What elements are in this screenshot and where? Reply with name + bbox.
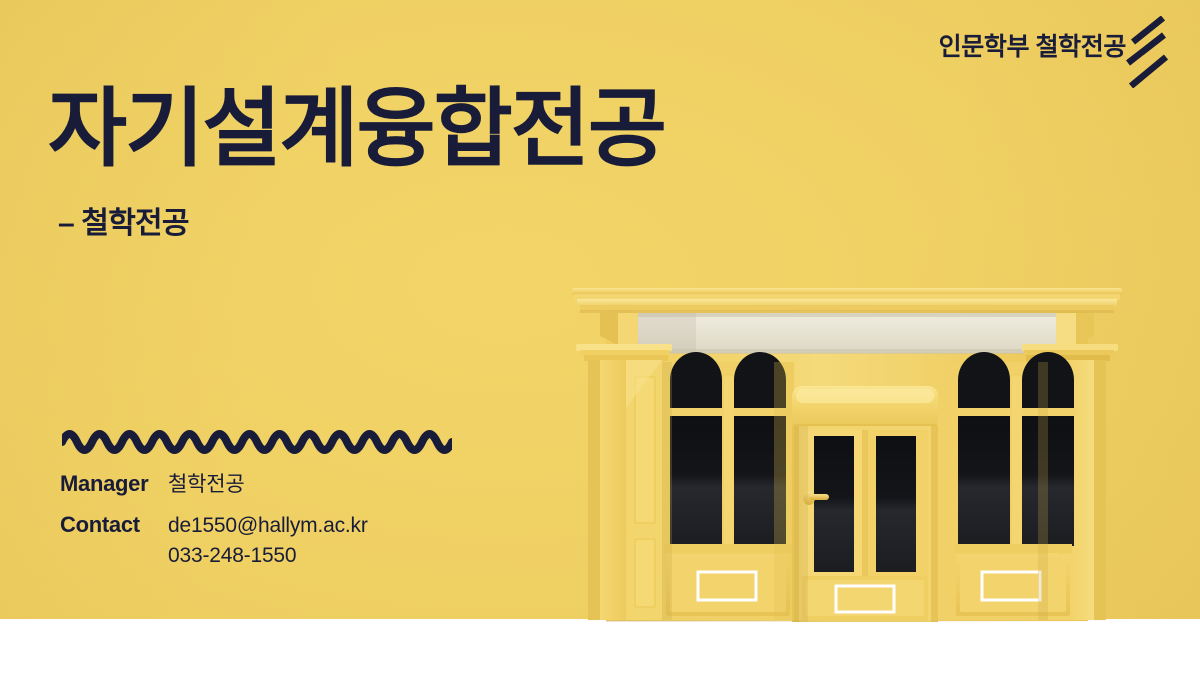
- contact-block: Manager 철학전공 Contact de1550@hallym.ac.kr…: [60, 468, 368, 568]
- door-sign-panel: [792, 386, 938, 431]
- manager-row: Manager 철학전공: [60, 468, 368, 498]
- contact-row: Contact de1550@hallym.ac.kr: [60, 512, 368, 538]
- page-title: 자기설계융합전공: [48, 84, 665, 174]
- manager-label: Manager: [60, 471, 168, 497]
- floor-white-band: [0, 619, 1200, 675]
- contact-phone: 033-248-1550: [168, 544, 368, 568]
- page-subtitle: – 철학전공: [58, 198, 189, 242]
- right-arched-window-pair: [952, 352, 1076, 620]
- slide-root: 인문학부 철학전공 자기설계융합전공 – 철학전공 Manager 철학전공 C…: [0, 0, 1200, 675]
- contact-label: Contact: [60, 512, 168, 538]
- left-arched-window-pair: [662, 352, 794, 620]
- wavy-line-divider: [62, 420, 452, 456]
- storefront-illustration: [566, 276, 1128, 622]
- left-pilaster: [588, 360, 662, 620]
- department-label: 인문학부 철학전공: [939, 27, 1126, 63]
- double-door: [792, 426, 938, 622]
- fascia-signboard: [636, 313, 1058, 354]
- cornice: [572, 288, 1122, 313]
- ground-shadow: [606, 620, 1128, 622]
- manager-value: 철학전공: [168, 468, 244, 498]
- diagonal-stripes-icon: [1124, 16, 1186, 88]
- contact-email[interactable]: de1550@hallym.ac.kr: [168, 514, 368, 538]
